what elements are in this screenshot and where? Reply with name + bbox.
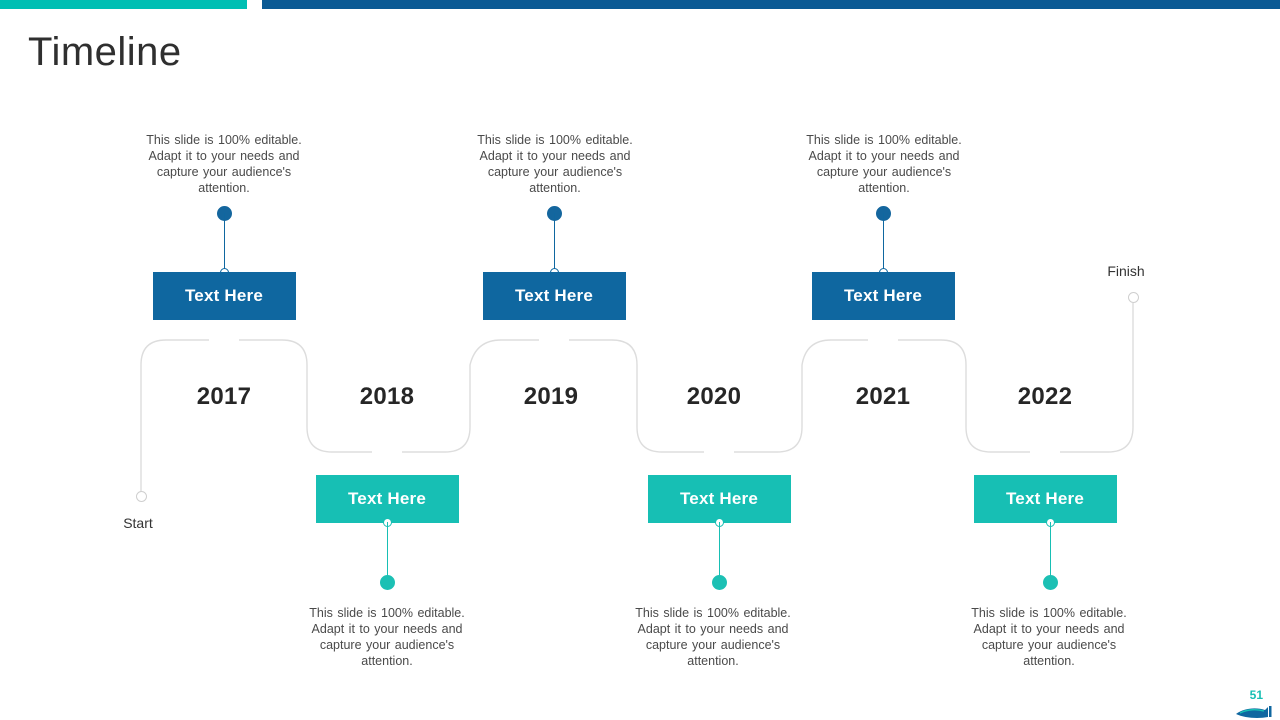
milestone-caption-2021: This slide is 100% editable. Adapt it to… [798,132,970,196]
milestone-box-2022[interactable]: Text Here [974,475,1117,523]
milestone-dot-2018[interactable] [380,575,395,590]
slide-canvas: Timeline Start Finish This slide is 100%… [0,0,1280,720]
milestone-year-2017: 2017 [164,383,284,411]
top-accent-bar-blue [262,0,1280,9]
milestone-box-2021[interactable]: Text Here [812,272,955,320]
milestone-box-label-2017: Text Here [185,286,263,306]
milestone-caption-2019: This slide is 100% editable. Adapt it to… [469,132,641,196]
milestone-box-2020[interactable]: Text Here [648,475,791,523]
milestone-dot-2022[interactable] [1043,575,1058,590]
milestone-box-label-2022: Text Here [1006,489,1084,509]
milestone-year-2018: 2018 [327,383,447,411]
brand-logo-icon [1234,698,1274,720]
finish-label: Finish [1066,263,1186,279]
milestone-stem-2019 [554,213,555,275]
milestone-stem-2022 [1050,522,1051,582]
track-seg-start [141,340,209,492]
track-seg-finish [1060,303,1133,452]
milestone-caption-2022: This slide is 100% editable. Adapt it to… [963,605,1135,669]
milestone-stem-2018 [387,522,388,582]
page-title: Timeline [28,30,182,75]
milestone-year-2020: 2020 [654,383,774,411]
milestone-stem-2021 [883,213,884,275]
milestone-caption-2017: This slide is 100% editable. Adapt it to… [138,132,310,196]
milestone-caption-2018: This slide is 100% editable. Adapt it to… [301,605,473,669]
milestone-dot-2020[interactable] [712,575,727,590]
milestone-stem-2020 [719,522,720,582]
milestone-box-2017[interactable]: Text Here [153,272,296,320]
top-accent-bar-teal [0,0,247,9]
milestone-caption-2020: This slide is 100% editable. Adapt it to… [627,605,799,669]
milestone-stem-2017 [224,213,225,275]
milestone-box-label-2018: Text Here [348,489,426,509]
milestone-box-label-2019: Text Here [515,286,593,306]
start-label: Start [78,515,198,531]
milestone-box-2018[interactable]: Text Here [316,475,459,523]
milestone-box-2019[interactable]: Text Here [483,272,626,320]
finish-marker-ring [1128,292,1139,303]
milestone-year-2019: 2019 [491,383,611,411]
milestone-year-2022: 2022 [985,383,1105,411]
milestone-year-2021: 2021 [823,383,943,411]
milestone-box-label-2021: Text Here [844,286,922,306]
start-marker-ring [136,491,147,502]
milestone-box-label-2020: Text Here [680,489,758,509]
